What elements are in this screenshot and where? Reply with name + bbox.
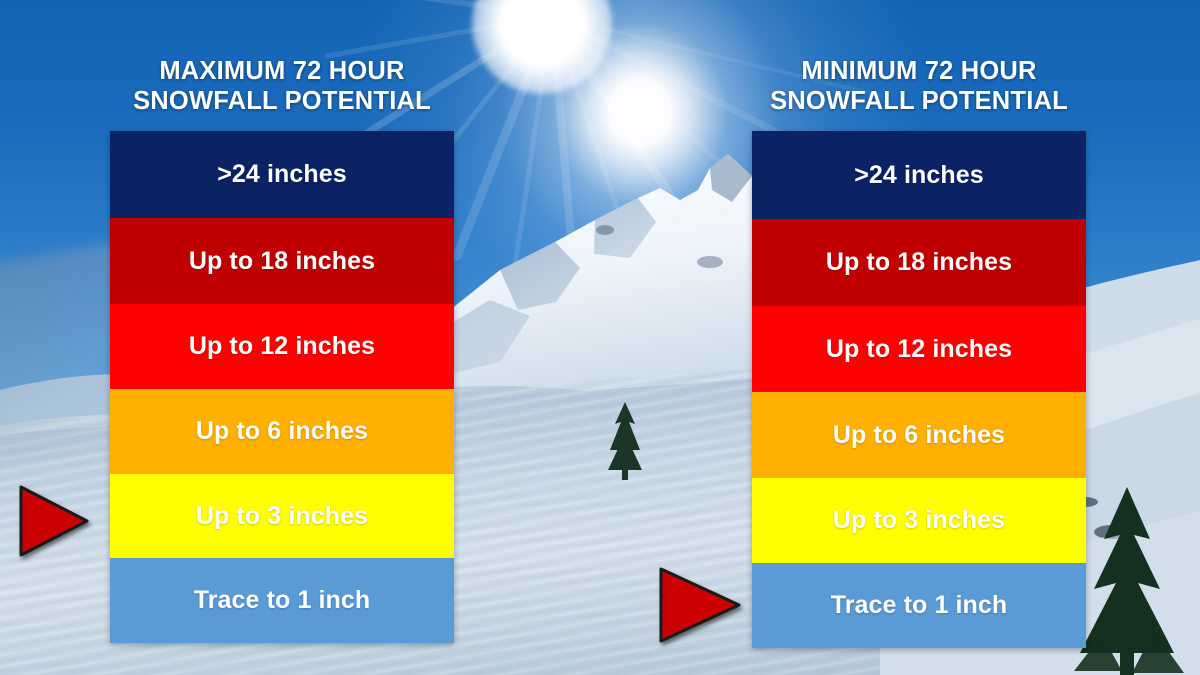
legend-band-up-to-12-label: Up to 12 inches — [826, 335, 1012, 364]
panel-maximum-title: MAXIMUM 72 HOUR SNOWFALL POTENTIAL — [110, 56, 454, 116]
legend-band-up-to-6[interactable]: Up to 6 inches — [752, 392, 1086, 478]
panel-minimum-title: MINIMUM 72 HOUR SNOWFALL POTENTIAL — [752, 56, 1086, 116]
legend-band-up-to-18[interactable]: Up to 18 inches — [110, 218, 454, 304]
legend-band-trace-label: Trace to 1 inch — [831, 591, 1008, 620]
legend-band-up-to-12[interactable]: Up to 12 inches — [110, 304, 454, 389]
small-evergreen-tree-icon — [604, 400, 646, 480]
legend-band-up-to-3-label: Up to 3 inches — [833, 506, 1005, 535]
legend-band-up-to-12-label: Up to 12 inches — [189, 332, 375, 361]
snowfall-potential-graphic: MAXIMUM 72 HOUR SNOWFALL POTENTIAL >24 i… — [0, 0, 1200, 675]
legend-band-up-to-3[interactable]: Up to 3 inches — [110, 474, 454, 558]
legend-band-over-24[interactable]: >24 inches — [110, 131, 454, 218]
legend-band-over-24-label: >24 inches — [854, 161, 984, 190]
legend-band-trace[interactable]: Trace to 1 inch — [752, 563, 1086, 648]
legend-band-over-24-label: >24 inches — [217, 160, 347, 189]
legend-band-up-to-18-label: Up to 18 inches — [826, 248, 1012, 277]
legend-band-trace[interactable]: Trace to 1 inch — [110, 558, 454, 643]
legend-band-up-to-18[interactable]: Up to 18 inches — [752, 219, 1086, 306]
panel-minimum-legend: >24 inches Up to 18 inches Up to 12 inch… — [752, 131, 1086, 648]
legend-band-up-to-6[interactable]: Up to 6 inches — [110, 389, 454, 474]
legend-band-trace-label: Trace to 1 inch — [194, 586, 371, 615]
legend-band-up-to-18-label: Up to 18 inches — [189, 247, 375, 276]
panel-maximum-legend: >24 inches Up to 18 inches Up to 12 inch… — [110, 131, 454, 643]
legend-band-up-to-6-label: Up to 6 inches — [196, 417, 368, 446]
legend-band-up-to-3-label: Up to 3 inches — [196, 502, 368, 531]
legend-band-up-to-12[interactable]: Up to 12 inches — [752, 306, 1086, 392]
legend-band-over-24[interactable]: >24 inches — [752, 131, 1086, 219]
marker-triangle-minimum — [658, 566, 742, 644]
marker-triangle-maximum — [18, 484, 90, 558]
legend-band-up-to-3[interactable]: Up to 3 inches — [752, 478, 1086, 563]
legend-band-up-to-6-label: Up to 6 inches — [833, 421, 1005, 450]
